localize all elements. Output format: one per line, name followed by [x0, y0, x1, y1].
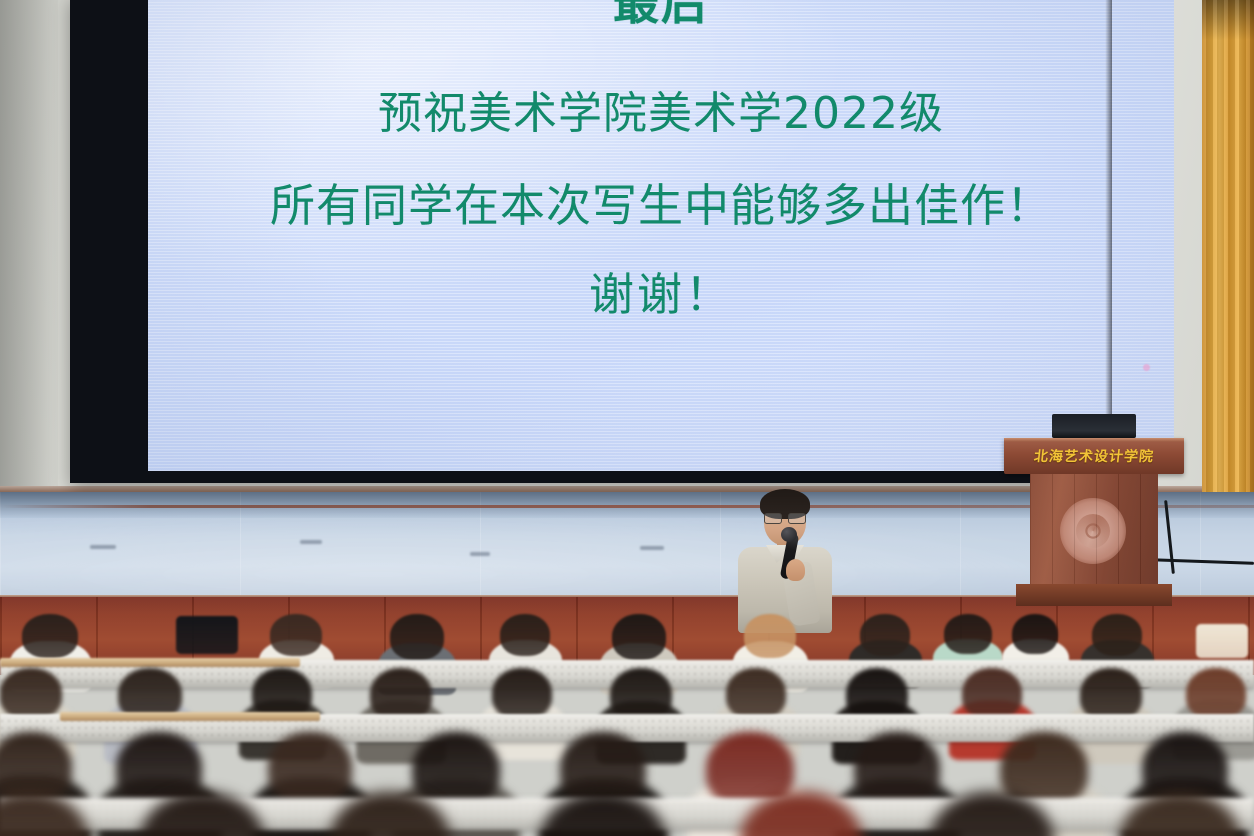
- floor-mark: [470, 552, 490, 556]
- cream-handbag: [1196, 624, 1248, 658]
- black-backpack: [176, 616, 238, 654]
- audience-person-head: [744, 614, 796, 658]
- projection-screen: 最后 预祝美术学院美术学2022级 所有同学在本次写生中能够多出佳作！ 谢谢！: [148, 0, 1174, 471]
- audience-person-head: [492, 668, 552, 720]
- podium-body: [1030, 474, 1158, 592]
- slide-line-2: 预祝美术学院美术学2022级: [378, 92, 944, 136]
- floor-mark: [640, 546, 664, 550]
- podium-top-edge: [1004, 438, 1184, 442]
- slide-heading: 最后: [613, 0, 709, 26]
- projection-screen-frame: 最后 预祝美术学院美术学2022级 所有同学在本次写生中能够多出佳作！ 谢谢！: [70, 0, 1112, 483]
- slide-content: 最后 预祝美术学院美术学2022级 所有同学在本次写生中能够多出佳作！ 谢谢！: [148, 0, 1174, 471]
- floor-mark: [300, 540, 322, 544]
- audience-area: [0, 596, 1254, 836]
- floor-mark: [90, 545, 116, 549]
- curtain-top-shadow: [1202, 0, 1254, 40]
- audience-person-head: [0, 668, 62, 720]
- audience-person-head: [944, 614, 992, 654]
- audience-person-head: [268, 732, 352, 804]
- audience-person-head: [270, 614, 322, 656]
- podium-monitor: [1052, 414, 1136, 438]
- audience-person-head: [1092, 614, 1142, 656]
- podium: 北海艺术设计学院: [1004, 438, 1184, 610]
- wall-shadow: [0, 0, 58, 520]
- audience-person-head: [854, 732, 940, 806]
- microphone-head: [781, 527, 797, 542]
- dust-speck: [1143, 364, 1150, 371]
- desk-surface: [0, 658, 300, 667]
- audience-person-head: [612, 614, 666, 660]
- auditorium-scene: 最后 预祝美术学院美术学2022级 所有同学在本次写生中能够多出佳作！ 谢谢！ …: [0, 0, 1254, 836]
- desk-surface: [60, 712, 320, 721]
- audience-person-head: [860, 614, 910, 656]
- slide-line-3: 所有同学在本次写生中能够多出佳作！: [270, 183, 1052, 228]
- audience-person-head: [1012, 614, 1058, 654]
- speaker-hand: [786, 559, 805, 581]
- podium-emblem-icon: [1060, 498, 1126, 564]
- audience-person-head: [412, 732, 500, 808]
- audience-person-head: [726, 668, 786, 720]
- glasses-icon: [764, 513, 806, 522]
- slide-thanks: 谢谢！: [589, 272, 733, 317]
- audience-person-head: [500, 614, 550, 656]
- audience-person-head: [390, 614, 444, 660]
- audience-person-head: [962, 668, 1022, 720]
- audience-person-head: [1186, 668, 1246, 720]
- podium-institution-name: 北海艺术设计学院: [1011, 443, 1178, 469]
- audience-person-head: [22, 614, 78, 658]
